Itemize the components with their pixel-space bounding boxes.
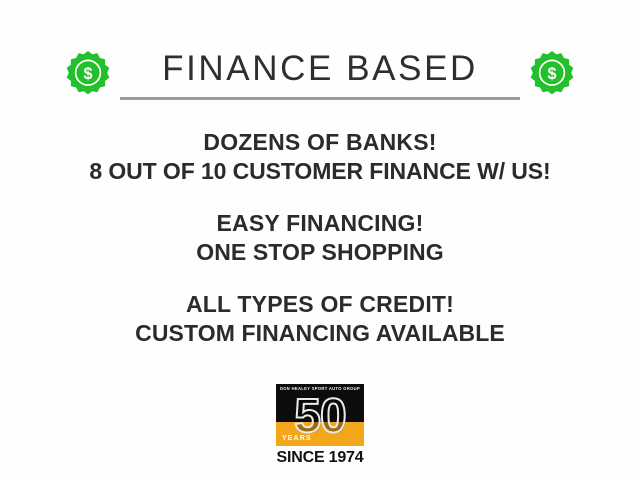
years-label: YEARS bbox=[282, 435, 312, 442]
anniversary-badge: DON HEALEY SPORT AUTO GROUP 50 YEARS bbox=[276, 384, 364, 446]
dealer-logo: DON HEALEY SPORT AUTO GROUP 50 YEARS SIN… bbox=[0, 384, 640, 467]
svg-text:$: $ bbox=[83, 65, 92, 83]
anniversary-number: 50 bbox=[276, 393, 364, 441]
headline-all-types-of-credit: ALL TYPES OF CREDIT! bbox=[0, 290, 640, 319]
since-label: SINCE 1974 bbox=[277, 449, 364, 467]
body-copy: DOZENS OF BANKS! 8 OUT OF 10 CUSTOMER FI… bbox=[0, 128, 640, 349]
subline-custom-financing-available: CUSTOM FINANCING AVAILABLE bbox=[0, 319, 640, 348]
money-gear-icon-right: $ bbox=[524, 47, 580, 103]
headline-dozens-of-banks: DOZENS OF BANKS! bbox=[0, 128, 640, 157]
title-block: FINANCE BASED bbox=[116, 51, 524, 100]
svg-text:$: $ bbox=[547, 65, 556, 83]
copy-group-credit: ALL TYPES OF CREDIT! CUSTOM FINANCING AV… bbox=[0, 290, 640, 349]
header-inner: $ FINANCE BASED $ bbox=[60, 47, 580, 103]
page-title: FINANCE BASED bbox=[162, 51, 478, 86]
copy-group-financing: EASY FINANCING! ONE STOP SHOPPING bbox=[0, 209, 640, 268]
subline-one-stop-shopping: ONE STOP SHOPPING bbox=[0, 238, 640, 267]
headline-easy-financing: EASY FINANCING! bbox=[0, 209, 640, 238]
slide-header: $ FINANCE BASED $ bbox=[0, 40, 640, 110]
money-gear-icon-left: $ bbox=[60, 47, 116, 103]
copy-group-banks: DOZENS OF BANKS! 8 OUT OF 10 CUSTOMER FI… bbox=[0, 128, 640, 187]
subline-customer-finance: 8 OUT OF 10 CUSTOMER FINANCE W/ US! bbox=[0, 157, 640, 186]
title-divider bbox=[120, 97, 520, 100]
finance-based-slide: $ FINANCE BASED $ DOZENS bbox=[0, 0, 640, 480]
